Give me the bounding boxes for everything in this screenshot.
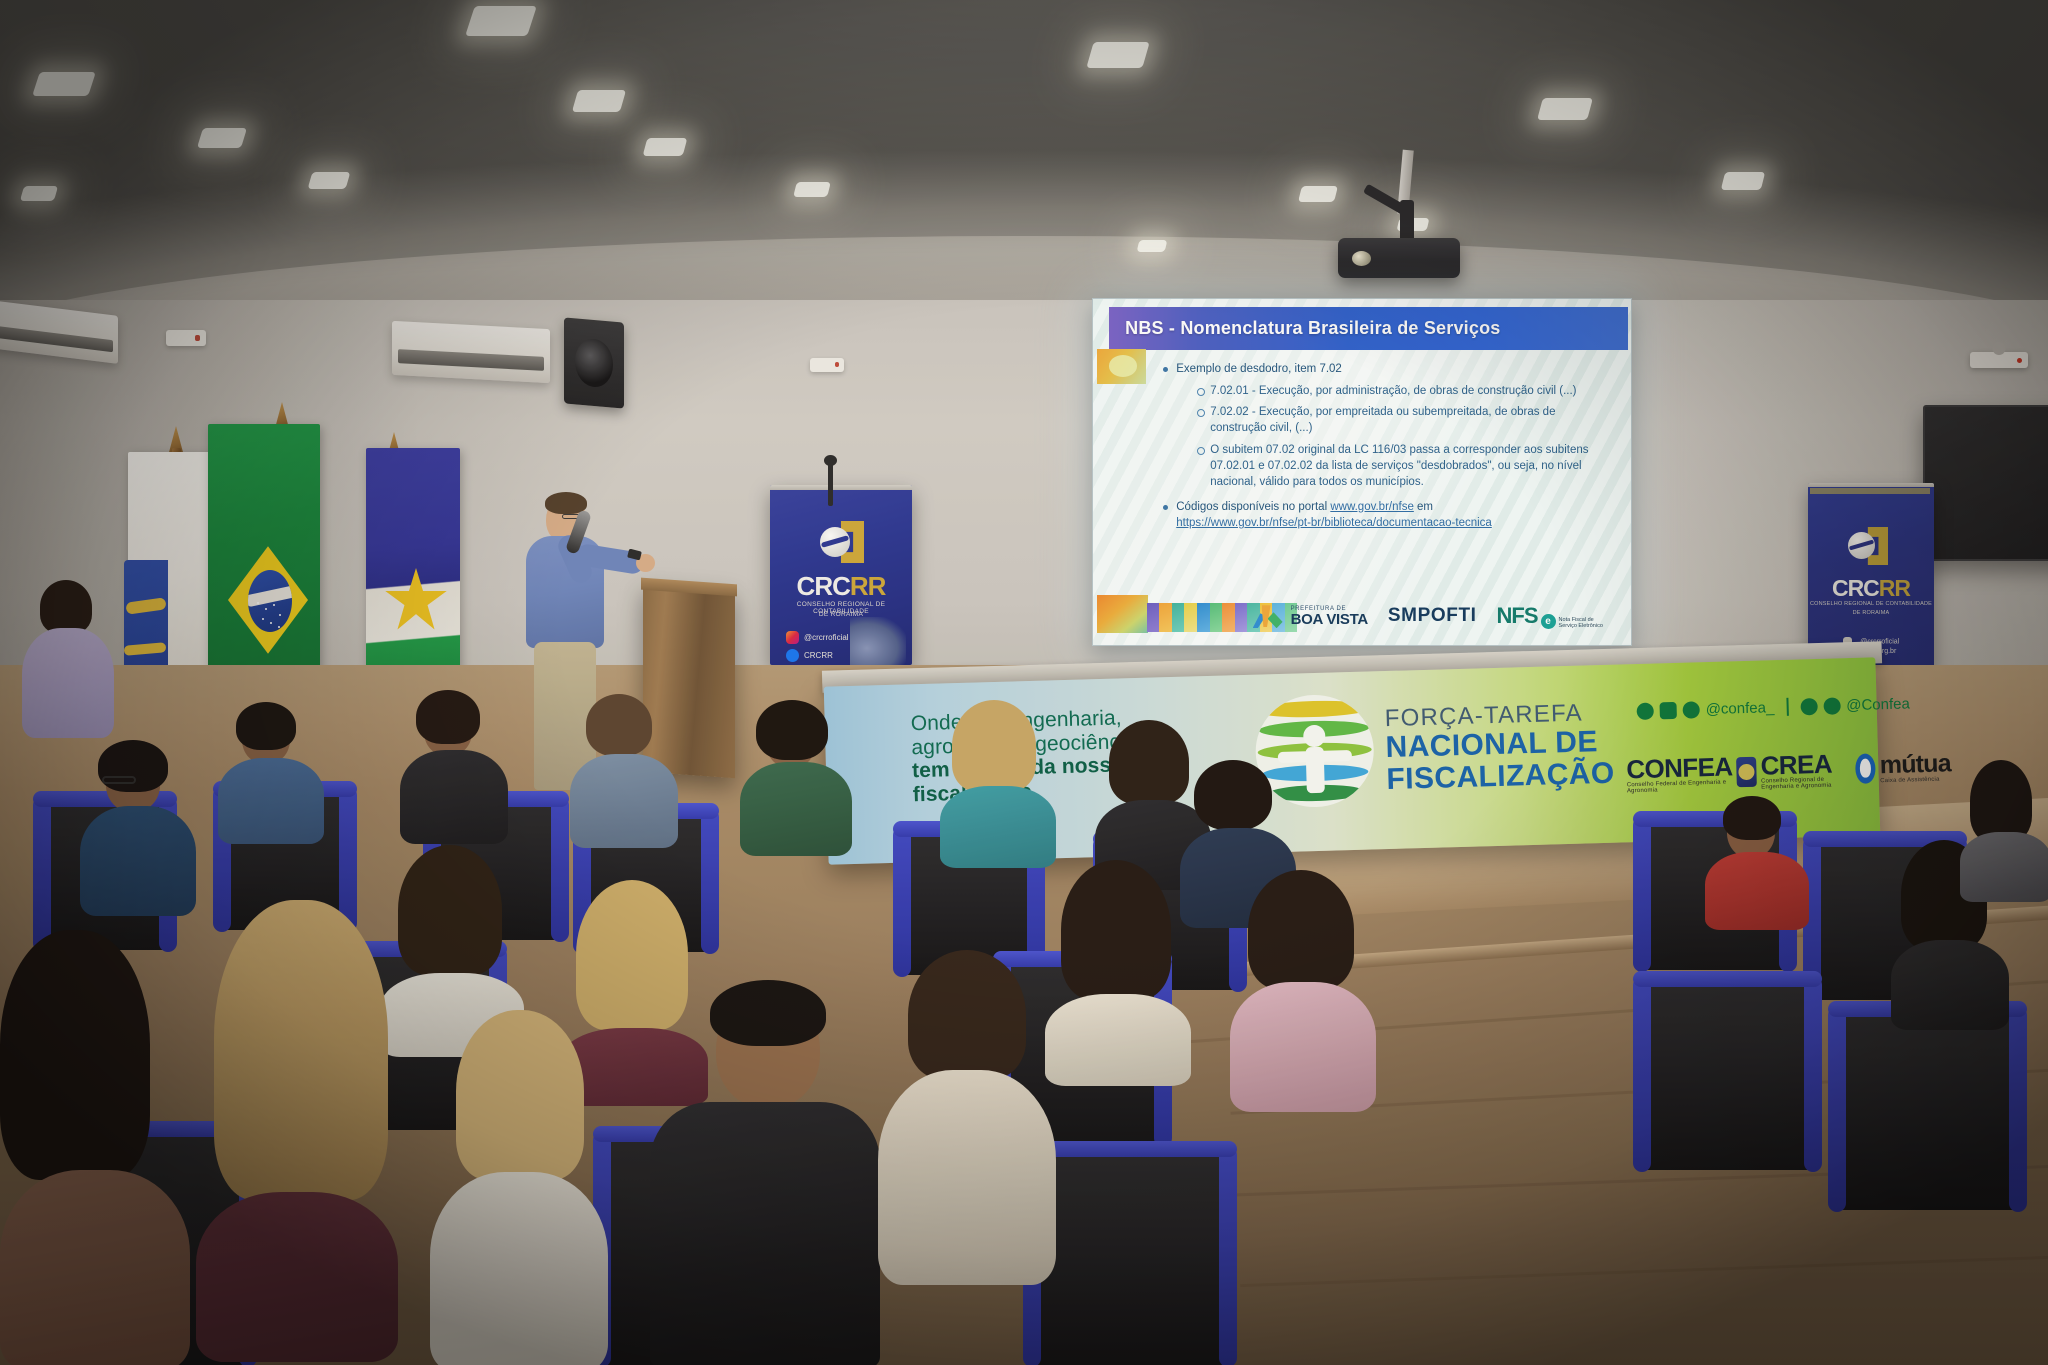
ceiling-projector bbox=[1338, 238, 1460, 278]
nfse-caption-line2: Serviço Eletrônico bbox=[1559, 623, 1603, 629]
attendee-hair bbox=[398, 845, 502, 975]
crc-acronym-part1: CRC bbox=[797, 571, 850, 601]
codes-prefix: Códigos disponíveis no portal bbox=[1176, 501, 1330, 513]
attendee-torso bbox=[570, 754, 678, 848]
crc-instagram-handle: @crcrroficial bbox=[804, 633, 849, 642]
linkedin-icon bbox=[1823, 697, 1840, 714]
attendee-torso bbox=[430, 1172, 608, 1365]
banner-gold-strip bbox=[1810, 488, 1930, 494]
crea-sublabel: Conselho Regional de Engenharia e Agrono… bbox=[1761, 776, 1852, 791]
banner-top-rail bbox=[770, 485, 912, 490]
air-conditioner-unit bbox=[392, 321, 550, 383]
attendee bbox=[400, 690, 510, 840]
attendee-hair bbox=[586, 694, 652, 756]
attendee-hair bbox=[1061, 860, 1171, 1000]
ac-vent bbox=[398, 349, 543, 371]
ceiling-light bbox=[793, 182, 831, 197]
attendee-glasses-icon bbox=[102, 776, 136, 784]
crc-logo-mark bbox=[1848, 527, 1888, 567]
crc-facebook-row: CRCRR bbox=[786, 649, 833, 662]
wall-mounted-tv bbox=[1923, 405, 2048, 561]
nfse-badge: e bbox=[1541, 614, 1556, 629]
attendee bbox=[430, 1010, 610, 1365]
mutua-logo: mútua Caixa de Assistência bbox=[1879, 751, 1951, 784]
attendee bbox=[940, 700, 1058, 860]
attendee-hair bbox=[416, 690, 480, 744]
attendee-torso bbox=[1960, 832, 2048, 902]
banner-photo-detail bbox=[850, 617, 906, 665]
mutua-seal-icon bbox=[1855, 753, 1876, 784]
crc-acronym-part1: CRC bbox=[1832, 575, 1879, 601]
ceiling-light bbox=[1137, 240, 1168, 252]
slide-decoration-top-left bbox=[1097, 349, 1145, 384]
attendee-torso bbox=[1230, 982, 1376, 1112]
crc-rr-banner-left: CRCRR CONSELHO REGIONAL DE CONTABILIDADE… bbox=[770, 485, 912, 665]
codes-middle: em bbox=[1414, 501, 1433, 513]
confea-handle-2: @Confea bbox=[1846, 695, 1910, 714]
attendee bbox=[1230, 870, 1380, 1110]
attendee-hair bbox=[710, 980, 826, 1046]
crc-acronym-part2: RR bbox=[1879, 575, 1910, 601]
attendee-hair bbox=[756, 700, 828, 760]
lectern-microphone-stem bbox=[828, 462, 833, 506]
confea-label: CONFEA bbox=[1626, 753, 1733, 782]
presentation-slide: NBS - Nomenclatura Brasileira de Serviço… bbox=[1093, 299, 1631, 645]
slide-title: NBS - Nomenclatura Brasileira de Serviço… bbox=[1109, 318, 1500, 339]
attendee-hair bbox=[1248, 870, 1354, 990]
x-twitter-icon bbox=[1659, 701, 1676, 718]
ceiling-light bbox=[572, 90, 626, 112]
attendee bbox=[878, 950, 1058, 1280]
nfse-portal-link[interactable]: www.gov.br/nfse bbox=[1330, 501, 1414, 513]
crc-acronym: CRCRR bbox=[770, 571, 912, 602]
smoke-detector bbox=[166, 330, 206, 346]
wall-camera bbox=[1970, 352, 2028, 368]
ceiling-light bbox=[197, 128, 247, 148]
attendee-hair bbox=[98, 740, 168, 792]
attendee bbox=[0, 930, 200, 1365]
social-divider bbox=[1786, 698, 1789, 716]
slide-bullet: Exemplo de desdodro, item 7.02 bbox=[1160, 361, 1609, 377]
attendee-torso bbox=[878, 1070, 1056, 1285]
instagram-icon bbox=[786, 631, 799, 644]
banner-social-row: @confea_ @Confea bbox=[1636, 694, 1910, 720]
smpofti-logo: SMPOFTI bbox=[1388, 605, 1477, 627]
crc-logo-mark bbox=[820, 521, 864, 565]
attendee-torso bbox=[1045, 994, 1191, 1086]
youtube-icon bbox=[1682, 701, 1699, 718]
attendee-torso bbox=[740, 762, 852, 856]
ac-vent bbox=[0, 326, 113, 353]
auditorium-photo: CRCRR CONSELHO REGIONAL DE CONTABILIDADE… bbox=[0, 0, 2048, 1365]
crea-seal-icon bbox=[1736, 757, 1757, 788]
attendee bbox=[570, 694, 680, 844]
attendee bbox=[1705, 790, 1815, 920]
crea-logo: CREA Conselho Regional de Engenharia e A… bbox=[1760, 750, 1852, 791]
banner-top-rail bbox=[1808, 483, 1934, 487]
attendee-hair bbox=[214, 900, 388, 1200]
slide-sub-bullet: O subitem 07.02 original da LC 116/03 pa… bbox=[1194, 442, 1609, 491]
attendee-hair bbox=[1194, 760, 1272, 830]
nfse-caption: Nota Fiscal de Serviço Eletrônico bbox=[1559, 617, 1603, 630]
attendee bbox=[80, 740, 200, 910]
crc-acronym: CRCRR bbox=[1808, 575, 1934, 602]
ceiling-light bbox=[1086, 42, 1149, 68]
attendee bbox=[190, 900, 410, 1360]
ceiling-light bbox=[1537, 98, 1593, 120]
attendee-hair bbox=[1970, 760, 2032, 842]
projection-screen: NBS - Nomenclatura Brasileira de Serviço… bbox=[1092, 298, 1632, 646]
nfse-mark: NFS bbox=[1497, 603, 1538, 629]
boa-vista-text: PREFEITURA DE BOA VISTA bbox=[1291, 606, 1368, 627]
crc-facebook-handle: CRCRR bbox=[804, 651, 833, 660]
attendee bbox=[1045, 860, 1195, 1080]
instagram-icon bbox=[1636, 702, 1653, 719]
attendee-torso bbox=[940, 786, 1056, 868]
attendee-torso bbox=[650, 1102, 880, 1365]
auditorium-chair[interactable] bbox=[1640, 980, 1815, 1170]
nfse-logo: NFS e Nota Fiscal de Serviço Eletrônico bbox=[1497, 603, 1603, 629]
slide-bullet-codes: Códigos disponíveis no portal www.gov.br… bbox=[1160, 499, 1609, 532]
ceiling-light bbox=[32, 72, 96, 96]
auditorium-chair[interactable] bbox=[1030, 1150, 1230, 1365]
crc-subtitle-2: DE RORAIMA bbox=[1808, 610, 1934, 616]
crc-acronym-part2: RR bbox=[850, 571, 886, 601]
attendee-torso bbox=[400, 750, 508, 844]
attendee-hair bbox=[952, 700, 1036, 792]
ceiling-light bbox=[308, 172, 351, 189]
crc-subtitle-1: CONSELHO REGIONAL DE CONTABILIDADE bbox=[1808, 601, 1934, 607]
boa-vista-logo: PREFEITURA DE BOA VISTA bbox=[1251, 603, 1368, 629]
ceiling-light bbox=[1721, 172, 1765, 190]
ceiling-light bbox=[20, 186, 58, 201]
mutua-label: mútua bbox=[1879, 751, 1951, 778]
boa-vista-mark-icon bbox=[1251, 603, 1285, 629]
attendee bbox=[650, 980, 880, 1365]
confea-logo: CONFEA Conselho Federal de Engenharia e … bbox=[1626, 753, 1733, 794]
attendee-torso bbox=[1705, 852, 1809, 930]
auditorium-chair[interactable] bbox=[1835, 1010, 2020, 1210]
attendee-torso bbox=[196, 1192, 398, 1362]
lectern-microphone-head bbox=[824, 455, 837, 466]
seated-attendee-left bbox=[20, 580, 140, 760]
wall-speaker bbox=[564, 317, 624, 408]
slide-body: Exemplo de desdodro, item 7.02 7.02.01 -… bbox=[1160, 361, 1609, 536]
attendee-torso bbox=[218, 758, 324, 844]
attendee bbox=[740, 700, 855, 850]
attendee-hair bbox=[1723, 796, 1781, 840]
documentacao-tecnica-link[interactable]: https://www.gov.br/nfse/pt-br/biblioteca… bbox=[1176, 517, 1492, 529]
ceiling-light bbox=[1298, 186, 1338, 202]
smoke-detector bbox=[810, 358, 844, 372]
slide-sub-bullet: 7.02.01 - Execução, por administração, d… bbox=[1194, 383, 1609, 399]
attendee-hair bbox=[236, 702, 296, 750]
attendee bbox=[218, 700, 328, 840]
facebook-icon bbox=[1800, 697, 1817, 714]
nfse-caption-line1: Nota Fiscal de bbox=[1559, 617, 1594, 623]
ceiling-light bbox=[643, 138, 688, 156]
boa-vista-label: BOA VISTA bbox=[1291, 612, 1368, 627]
attendee-torso bbox=[0, 1170, 190, 1365]
attendee-hair bbox=[0, 930, 150, 1180]
attendee-hair bbox=[40, 580, 92, 634]
attendee-torso bbox=[1891, 940, 2009, 1030]
attendee-torso bbox=[80, 806, 196, 916]
attendee-torso bbox=[22, 628, 114, 738]
confea-handle-1: @confea_ bbox=[1705, 699, 1774, 718]
attendee bbox=[1960, 760, 2048, 890]
slide-decoration-bottom-left bbox=[1097, 595, 1148, 633]
slide-title-bar: NBS - Nomenclatura Brasileira de Serviço… bbox=[1109, 307, 1628, 350]
ft-line-3: FISCALIZAÇÃO bbox=[1386, 759, 1615, 795]
crc-instagram-row: @crcrroficial bbox=[786, 631, 849, 644]
ceiling-light bbox=[465, 6, 537, 36]
crea-label: CREA bbox=[1760, 750, 1852, 779]
attendee-hair bbox=[1109, 720, 1189, 804]
slide-footer-logos: PREFEITURA DE BOA VISTA SMPOFTI NFS e No… bbox=[1147, 601, 1615, 632]
slide-sub-bullet: 7.02.02 - Execução, por empreitada ou su… bbox=[1194, 404, 1609, 437]
attendee-hair bbox=[456, 1010, 584, 1180]
facebook-icon bbox=[786, 649, 799, 662]
attendee-hair bbox=[908, 950, 1026, 1080]
